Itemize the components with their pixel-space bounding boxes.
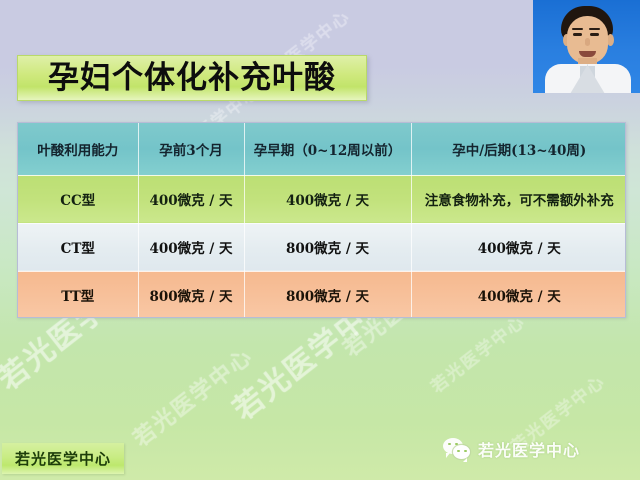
- cell-pre: 800微克 / 天: [138, 271, 244, 318]
- slide-title: 孕妇个体化补充叶酸: [48, 63, 336, 94]
- portrait-eye-left: [573, 33, 582, 36]
- watermark-tile: 若光医学中心: [424, 308, 529, 398]
- cell-early: 800微克 / 天: [244, 271, 411, 318]
- wechat-icon: [443, 438, 471, 461]
- brand-bottom-right: 若光医学中心: [443, 437, 580, 461]
- table-header-row: 叶酸利用能力 孕前3个月 孕早期（0~12周以前） 孕中/后期(13~40周): [18, 123, 626, 175]
- cell-pre: 400微克 / 天: [138, 223, 244, 271]
- portrait-eye-right: [590, 33, 599, 36]
- cell-mid-late: 400微克 / 天: [411, 271, 626, 318]
- cell-genotype: CC型: [18, 175, 138, 223]
- table-row: TT型 800微克 / 天 800微克 / 天 400微克 / 天: [18, 271, 626, 318]
- table-row: CC型 400微克 / 天 400微克 / 天 注意食物补充，可不需额外补充: [18, 175, 626, 223]
- presentation-slide: 若光医学中心 若光医学中心 若光医学中心 若光医学中心 若光医学中心 若光医学中…: [0, 0, 640, 480]
- watermark-tile: 若光医学中心: [125, 339, 258, 453]
- cell-pre: 400微克 / 天: [138, 175, 244, 223]
- table-header-pre: 孕前3个月: [138, 123, 244, 175]
- portrait-brow-left: [572, 28, 583, 30]
- brand-text: 若光医学中心: [478, 437, 580, 461]
- logo-text: 若光医学中心: [15, 448, 111, 469]
- table-header-mid-late: 孕中/后期(13~40周): [411, 123, 626, 175]
- cell-mid-late: 400微克 / 天: [411, 223, 626, 271]
- cell-early: 800微克 / 天: [244, 223, 411, 271]
- portrait-nose: [585, 38, 590, 46]
- slide-title-box: 孕妇个体化补充叶酸: [17, 55, 367, 101]
- cell-early: 400微克 / 天: [244, 175, 411, 223]
- doctor-portrait: [533, 0, 640, 93]
- table: 叶酸利用能力 孕前3个月 孕早期（0~12周以前） 孕中/后期(13~40周) …: [18, 123, 626, 318]
- portrait-lapel-right: [587, 64, 605, 93]
- portrait-ear-right: [607, 34, 614, 46]
- cell-mid-late: 注意食物补充，可不需额外补充: [411, 175, 626, 223]
- portrait-lapel-left: [570, 64, 588, 93]
- cell-genotype: TT型: [18, 271, 138, 318]
- cell-genotype: CT型: [18, 223, 138, 271]
- logo-badge-bottom-left: 若光医学中心: [2, 443, 124, 474]
- table-row: CT型 400微克 / 天 800微克 / 天 400微克 / 天: [18, 223, 626, 271]
- table-header-genotype: 叶酸利用能力: [18, 123, 138, 175]
- portrait-brow-right: [589, 28, 600, 30]
- folic-acid-dosage-table: 叶酸利用能力 孕前3个月 孕早期（0~12周以前） 孕中/后期(13~40周) …: [17, 122, 626, 318]
- table-header-early: 孕早期（0~12周以前）: [244, 123, 411, 175]
